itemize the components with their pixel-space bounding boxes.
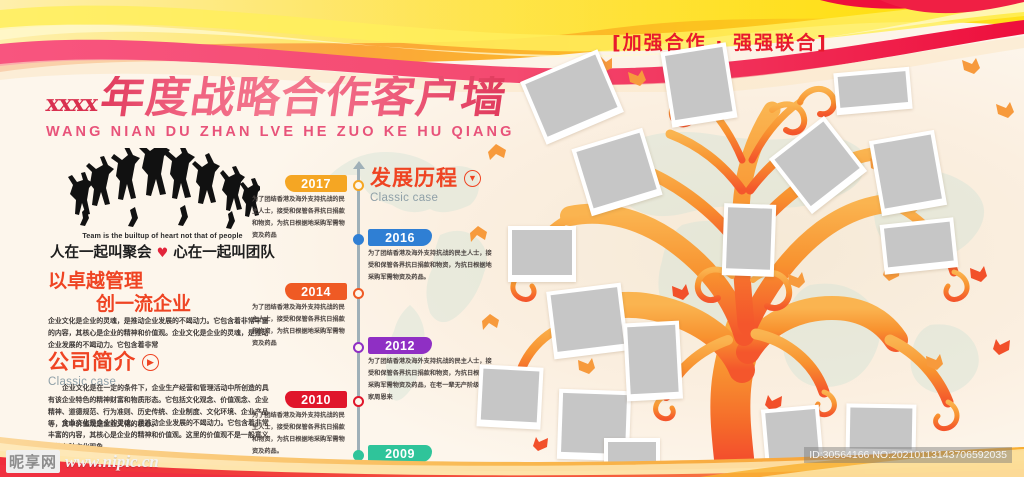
timeline-dot-2016 [353,234,364,245]
timeline-year-badge-2014[interactable]: 2014 [285,283,347,300]
poster-canvas: [加强合作 · 强强联合] xxxx 年度战略合作客户墙 WANG NIAN D… [0,0,1024,477]
watermark-url: www.nipic.cn [65,452,159,472]
timeline-dot-2010 [353,396,364,407]
watermark-brand: 昵享网 [6,450,60,473]
timeline-year-badge-2017[interactable]: 2017 [285,175,347,192]
history-subtitle: Classic case [370,192,481,204]
timeline-text-2017: 为了团结香港及海外支持抗战的民主人士，接受和保管各界抗日捐款和物资，为抗日根据地… [252,194,348,242]
company-intro-title: 公司简介 [48,352,136,373]
image-id-tag: ID:30564166 NO:20210113143706592035 [804,447,1012,463]
arrow-right-icon[interactable]: ▶ [142,354,159,371]
team-slogan-english: Team is the builtup of heart not that of… [60,231,265,240]
photo-placeholder [874,134,942,208]
timeline-year-badge-2012[interactable]: 2012 [368,337,432,354]
team-slogan-right: 心在一起叫团队 [173,245,275,261]
title-prefix: xxxx [45,90,99,117]
photo-slot-13[interactable] [722,203,776,277]
heart-icon: ♥ [157,246,169,261]
timeline-year-badge-2016[interactable]: 2016 [368,229,432,246]
photo-slot-1[interactable] [508,226,576,282]
team-slogan-left: 人在一起叫聚会 [50,245,152,261]
photo-placeholder [726,207,772,269]
excellence-slogan-line2: 创一流企业 [48,293,278,316]
team-slogan-chinese: 人在一起叫聚会 ♥ 心在一起叫团队 [50,241,265,262]
photo-slot-11[interactable] [833,67,912,115]
photo-slot-12[interactable] [869,130,947,216]
photo-slot-8[interactable] [623,321,683,402]
excellence-slogan-line1: 以卓越管理 [48,270,278,293]
page-title: 年度战略合作客户墙 [94,76,509,120]
main-title-block: xxxx 年度战略合作客户墙 WANG NIAN DU ZHAN LVE HE … [46,76,496,140]
history-title: 发展历程 [370,168,458,189]
culture-paragraph: 企业文化是企业的灵魂，是推动企业发展的不竭动力。它包含着非常丰富的内容，其核心是… [48,316,273,352]
timeline-year-badge-2010[interactable]: 2010 [285,391,347,408]
timeline-dot-2014 [353,288,364,299]
photo-placeholder [884,222,954,268]
photo-placeholder [512,230,572,275]
watermark: 昵享网 www.nipic.cn [6,450,159,473]
photo-slot-2[interactable] [546,283,629,360]
timeline-dot-2017 [353,180,364,191]
jumping-crowd-silhouette [60,148,260,230]
timeline-dot-2012 [353,342,364,353]
photo-slot-7[interactable] [660,42,737,127]
photo-placeholder [627,325,678,394]
photo-placeholder [665,47,732,120]
photo-placeholder [576,133,656,209]
photo-slot-15[interactable] [880,217,959,274]
photo-placeholder [551,287,624,352]
photo-placeholder [838,71,908,108]
title-pinyin: WANG NIAN DU ZHAN LVE HE ZUO KE HU QIANG [46,124,496,140]
timeline-text-2014: 为了团结香港及海外支持抗战的民主人士，接受和保管各界抗日捐款和物资，为抗日根据地… [252,302,348,350]
history-heading: 发展历程 ▼ Classic case [370,168,481,204]
excellence-slogan: 以卓越管理 创一流企业 [48,270,278,316]
